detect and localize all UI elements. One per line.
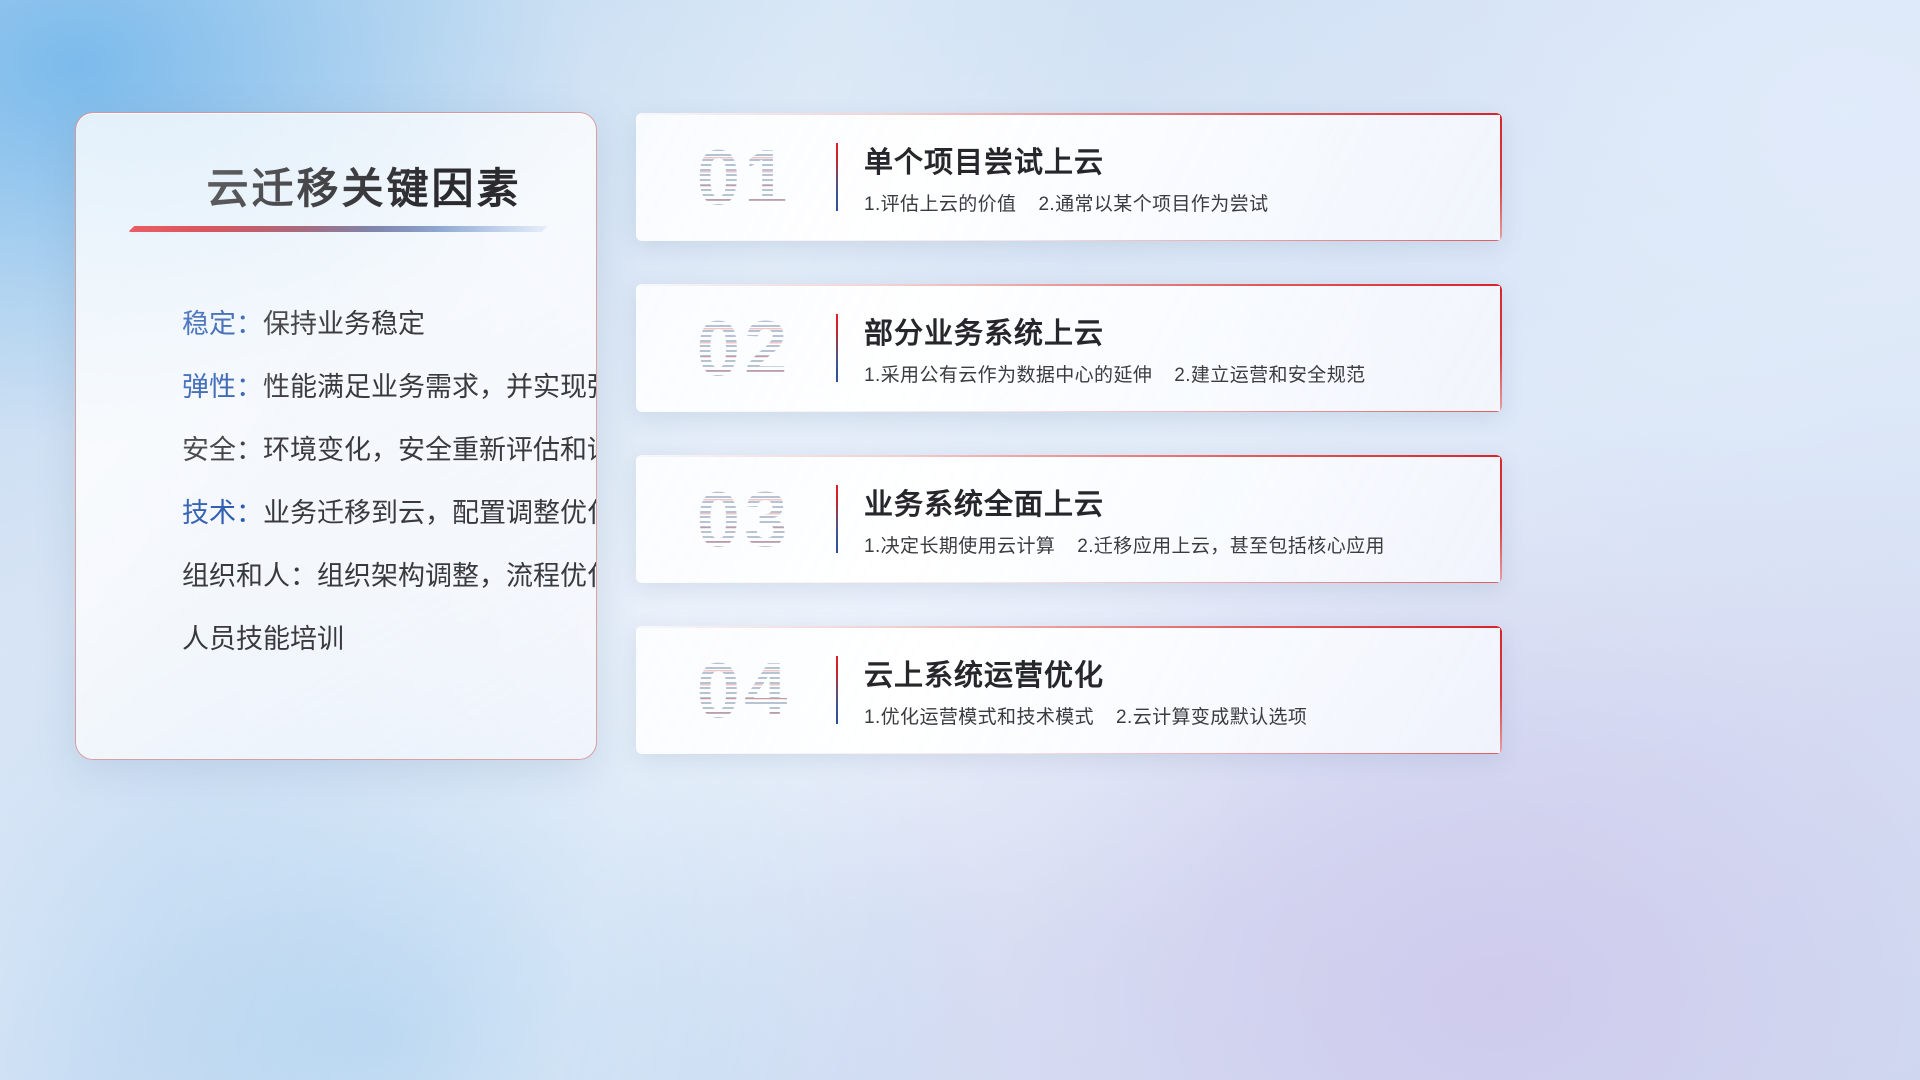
stage-number-overlay: 04 (660, 642, 828, 738)
stage-number-overlay: 01 (660, 129, 828, 225)
stage-card-list: 01 01 单个项目尝试上云 1.评估上云的价值2.通常以某个项目作为尝试 02… (636, 113, 1502, 754)
card-detail-2: 2.通常以某个项目作为尝试 (1038, 194, 1268, 215)
card-top-edge (636, 455, 1502, 457)
list-item-value: 业务迁移到云，配置调整优化 (263, 498, 597, 528)
key-factors-list: 稳定：保持业务稳定 弹性：性能满足业务需求，并实现弹性 安全：环境变化，安全重新… (106, 309, 574, 654)
stage-number-overlay: 02 (660, 300, 828, 396)
card-bottom-edge (636, 240, 1502, 241)
card-title: 部分业务系统上云 (864, 310, 1104, 352)
list-item: 组织和人：组织架构调整，流程优化， (106, 561, 574, 591)
card-title: 业务系统全面上云 (864, 481, 1104, 523)
list-item: 稳定：保持业务稳定 (106, 309, 574, 339)
key-factors-panel: 云迁移关键因素 稳定：保持业务稳定 弹性：性能满足业务需求，并实现弹性 安全：环… (75, 112, 597, 760)
list-item: 人员技能培训 (106, 624, 574, 654)
card-divider-bar (836, 314, 838, 382)
card-title: 云上系统运营优化 (864, 652, 1104, 694)
card-divider-bar (836, 143, 838, 211)
list-item: 技术：业务迁移到云，配置调整优化 (106, 498, 574, 528)
card-top-edge (636, 626, 1502, 628)
stage-number-overlay: 03 (660, 471, 828, 567)
title-underline-gradient (128, 226, 548, 232)
card-top-edge (636, 284, 1502, 286)
list-item-value: 性能满足业务需求，并实现弹性 (263, 372, 597, 402)
card-detail-2: 2.建立运营和安全规范 (1174, 365, 1365, 386)
card-divider-bar (836, 485, 838, 553)
card-detail-1: 1.决定长期使用云计算 (864, 536, 1055, 557)
card-description: 1.评估上云的价值2.通常以某个项目作为尝试 (864, 189, 1269, 216)
list-item-value: 组织架构调整，流程优化， (317, 561, 597, 591)
list-item-label: 稳定： (182, 309, 263, 339)
stage-card[interactable]: 01 01 单个项目尝试上云 1.评估上云的价值2.通常以某个项目作为尝试 (636, 113, 1502, 241)
card-right-edge (1500, 284, 1502, 412)
card-right-edge (1500, 113, 1502, 241)
card-detail-1: 1.优化运营模式和技术模式 (864, 707, 1094, 728)
stage-card[interactable]: 03 03 业务系统全面上云 1.决定长期使用云计算2.迁移应用上云，甚至包括核… (636, 455, 1502, 583)
list-item-value: 保持业务稳定 (263, 309, 425, 339)
card-detail-2: 2.迁移应用上云，甚至包括核心应用 (1077, 536, 1385, 557)
list-item-label: 组织和人： (182, 561, 317, 591)
card-right-edge (1500, 626, 1502, 754)
card-bottom-edge (636, 753, 1502, 754)
card-title: 单个项目尝试上云 (864, 139, 1104, 181)
card-description: 1.采用公有云作为数据中心的延伸2.建立运营和安全规范 (864, 360, 1366, 387)
card-detail-2: 2.云计算变成默认选项 (1116, 707, 1307, 728)
list-item-value: 人员技能培训 (182, 624, 344, 654)
list-item: 安全：环境变化，安全重新评估和评审 (106, 435, 574, 465)
card-bottom-edge (636, 582, 1502, 583)
list-item: 弹性：性能满足业务需求，并实现弹性 (106, 372, 574, 402)
card-bottom-edge (636, 411, 1502, 412)
list-item-label: 技术： (182, 498, 263, 528)
card-detail-1: 1.评估上云的价值 (864, 194, 1016, 215)
page-title: 云迁移关键因素 (164, 155, 564, 216)
list-item-label: 弹性： (182, 372, 263, 402)
card-description: 1.决定长期使用云计算2.迁移应用上云，甚至包括核心应用 (864, 531, 1385, 558)
card-detail-1: 1.采用公有云作为数据中心的延伸 (864, 365, 1152, 386)
card-right-edge (1500, 455, 1502, 583)
list-item-value: 环境变化，安全重新评估和评审 (263, 435, 597, 465)
card-description: 1.优化运营模式和技术模式2.云计算变成默认选项 (864, 702, 1307, 729)
card-top-edge (636, 113, 1502, 115)
stage-card[interactable]: 02 02 部分业务系统上云 1.采用公有云作为数据中心的延伸2.建立运营和安全… (636, 284, 1502, 412)
stage-card[interactable]: 04 04 云上系统运营优化 1.优化运营模式和技术模式2.云计算变成默认选项 (636, 626, 1502, 754)
list-item-label: 安全： (182, 435, 263, 465)
card-divider-bar (836, 656, 838, 724)
